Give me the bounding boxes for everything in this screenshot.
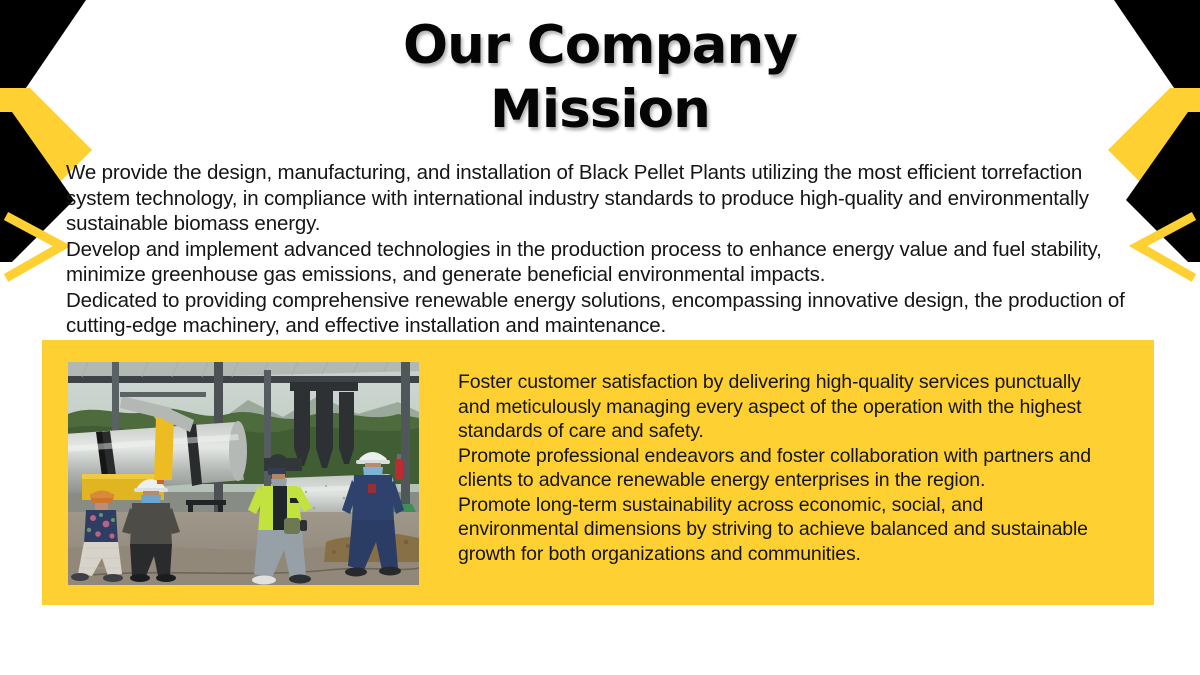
slide-canvas: Our Company Mission We provide the desig… <box>0 0 1200 675</box>
panel-paragraph-3: Promote long-term sustainability across … <box>458 493 1108 567</box>
panel-paragraph-2: Promote professional endeavors and foste… <box>458 444 1108 493</box>
intro-text-block: We provide the design, manufacturing, an… <box>66 160 1136 339</box>
plant-photo <box>68 362 419 585</box>
intro-paragraph-3: Dedicated to providing comprehensive ren… <box>66 288 1136 339</box>
yellow-chevron-outline-right <box>1138 216 1194 278</box>
title-line-2: Mission <box>0 78 1200 142</box>
intro-paragraph-1: We provide the design, manufacturing, an… <box>66 160 1136 237</box>
panel-text-block: Foster customer satisfaction by deliveri… <box>458 370 1108 566</box>
title-line-1: Our Company <box>0 14 1200 78</box>
slide-title: Our Company Mission <box>0 14 1200 141</box>
intro-paragraph-2: Develop and implement advanced technolog… <box>66 237 1136 288</box>
panel-paragraph-1: Foster customer satisfaction by deliveri… <box>458 370 1108 444</box>
yellow-chevron-outline-left <box>6 216 62 278</box>
